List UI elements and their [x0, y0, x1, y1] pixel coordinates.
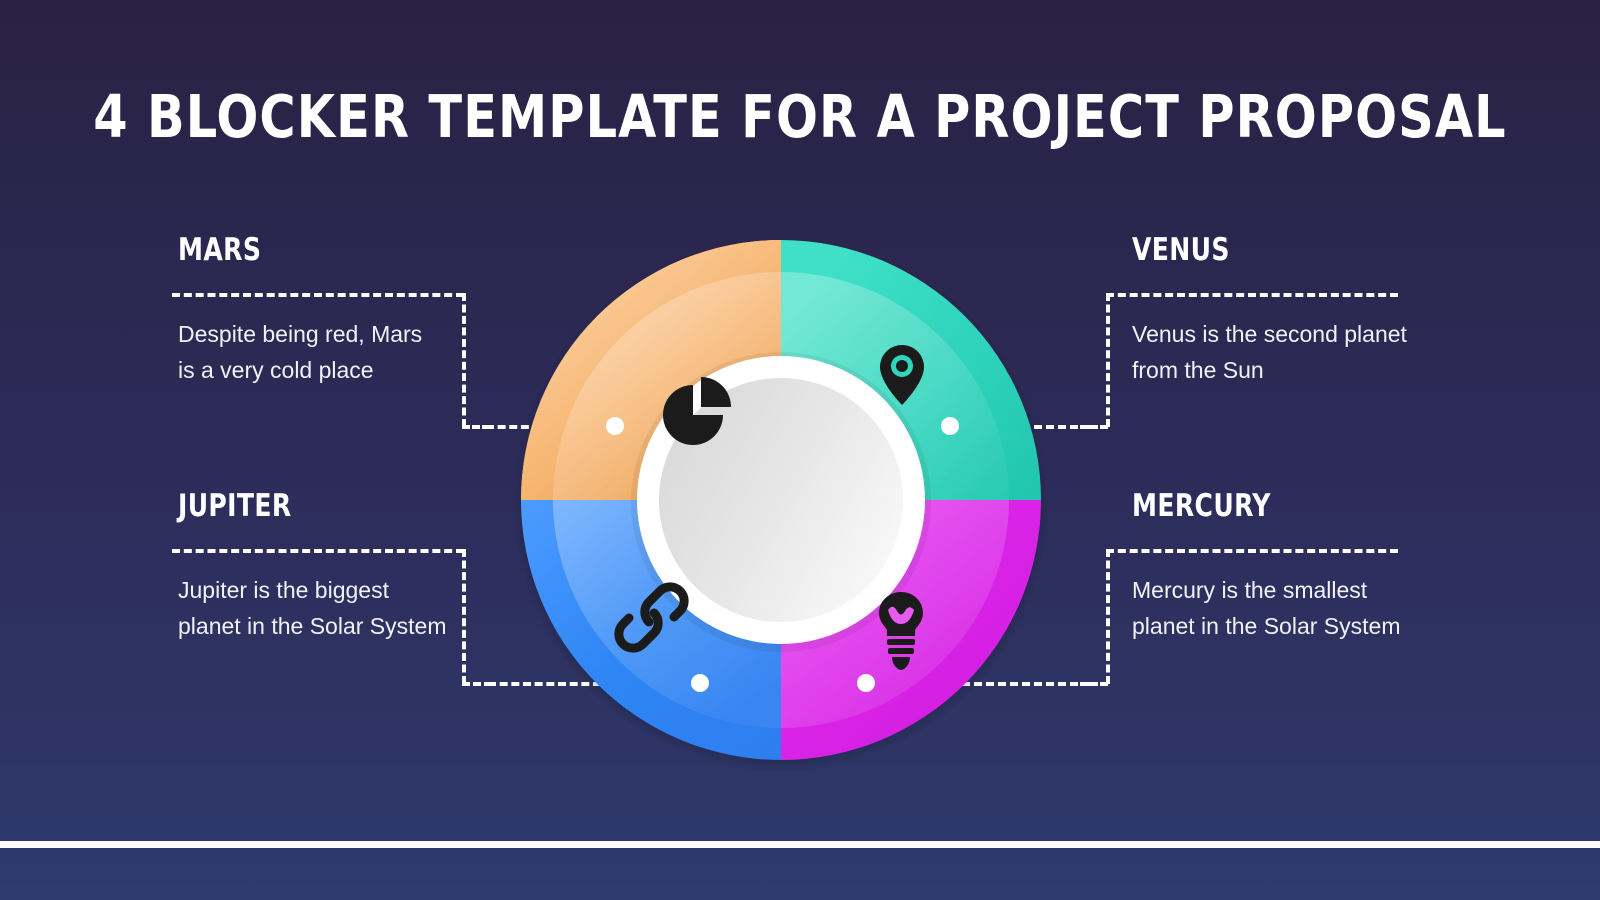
connector-dot-mercury[interactable] [857, 674, 875, 692]
block-body-mars: Despite being red, Mars is a very cold p… [178, 282, 438, 389]
bottom-rule [0, 841, 1600, 848]
block-heading-venus: VENUS [1132, 232, 1402, 268]
block-body-venus: Venus is the second planet from the Sun [1132, 282, 1407, 389]
block-body-mercury: Mercury is the smallest planet in the So… [1132, 538, 1410, 645]
block-mercury: MERCURY Mercury is the smallest planet i… [1132, 488, 1432, 645]
block-venus: VENUS Venus is the second planet from th… [1132, 232, 1432, 389]
donut-center-disc[interactable] [659, 378, 903, 622]
connector-dot-mars[interactable] [606, 417, 624, 435]
mercury-frame-left [1106, 549, 1110, 684]
block-heading-mercury: MERCURY [1132, 488, 1402, 524]
block-heading-jupiter: JUPITER [178, 488, 448, 524]
block-mars: MARS Despite being red, Mars is a very c… [178, 232, 468, 389]
slide-canvas: 4 BLOCKER TEMPLATE FOR A PROJECT PROPOSA… [0, 0, 1600, 900]
block-jupiter: JUPITER Jupiter is the biggest planet in… [178, 488, 478, 645]
connector-dot-venus[interactable] [941, 417, 959, 435]
block-heading-mars: MARS [178, 232, 439, 268]
page-title: 4 BLOCKER TEMPLATE FOR A PROJECT PROPOSA… [56, 82, 1544, 151]
donut-chart [501, 220, 1061, 780]
connector-dot-jupiter[interactable] [691, 674, 709, 692]
block-body-jupiter: Jupiter is the biggest planet in the Sol… [178, 538, 448, 645]
venus-frame-left [1106, 293, 1110, 427]
